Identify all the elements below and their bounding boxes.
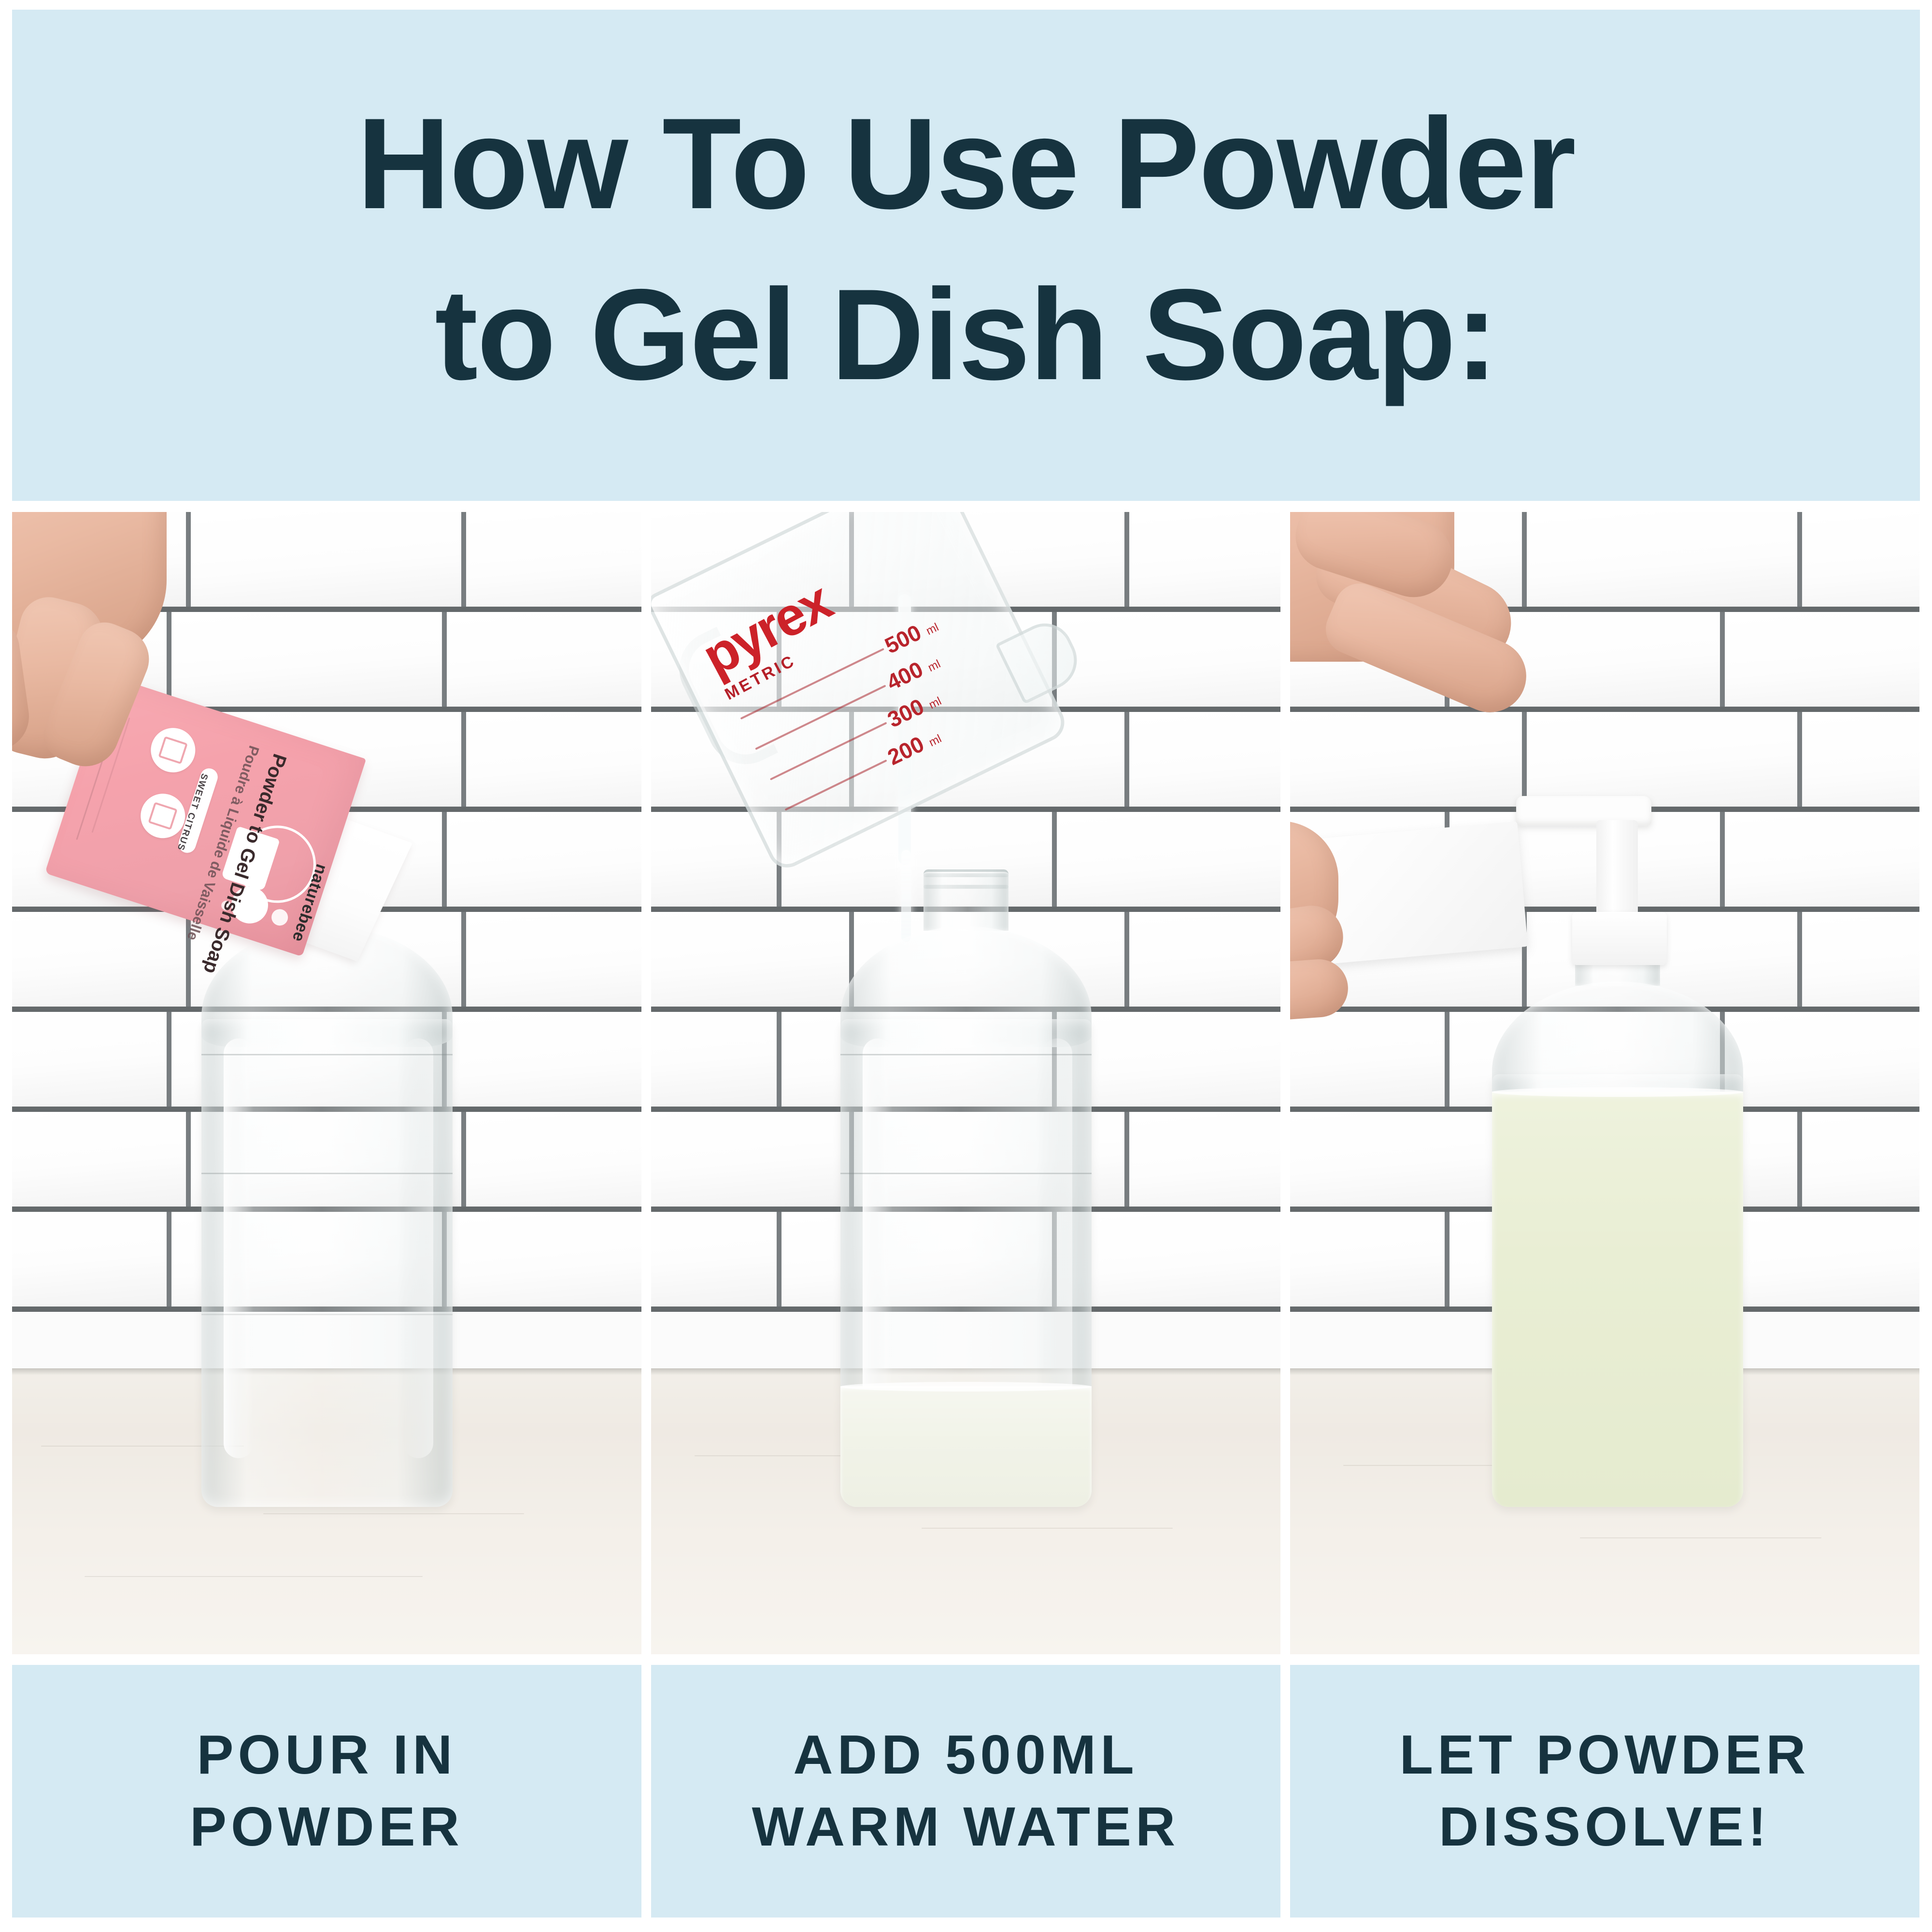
powder-fill (840, 1386, 1092, 1507)
page-title-line-1: How To Use Powder (357, 78, 1575, 249)
gel-fill (1492, 1092, 1743, 1507)
step-caption-3-line-1: LET POWDER (1400, 1719, 1810, 1791)
glass-bottle-with-powder (831, 869, 1101, 1541)
step-caption-2: ADD 500ML WARM WATER (651, 1665, 1280, 1918)
step-photo-1: SWEET CITRUS Poudre à Liquide de Vaissel… (12, 512, 641, 1654)
step-caption-3-line-2: DISSOLVE! (1439, 1791, 1771, 1863)
step-caption-2-line-1: ADD 500ML (793, 1719, 1138, 1791)
page-title-line-2: to Gel Dish Soap: (357, 249, 1575, 420)
step-caption-2-line-2: WARM WATER (752, 1791, 1180, 1863)
step-caption-3: LET POWDER DISSOLVE! (1290, 1665, 1919, 1918)
step-caption-1: POUR IN POWDER (12, 1665, 641, 1918)
step-photo-2: pyrex METRIC 500 ml 400 ml 300 ml 200 ml (651, 512, 1280, 1654)
header-band: How To Use Powder to Gel Dish Soap: (12, 10, 1920, 501)
step-caption-row: POUR IN POWDER ADD 500ML WARM WATER LET … (12, 1665, 1920, 1918)
pump-collar (1572, 912, 1667, 965)
step-caption-1-line-1: POUR IN (197, 1719, 456, 1791)
glass-bottle-with-gel (1482, 937, 1753, 1541)
infographic-poster: How To Use Powder to Gel Dish Soap: (0, 0, 1932, 1932)
pump-stem (1596, 820, 1638, 919)
hand-pressing-pump (1290, 512, 1619, 831)
step-photo-row: SWEET CITRUS Poudre à Liquide de Vaissel… (12, 512, 1920, 1654)
step-photo-3 (1290, 512, 1919, 1654)
step-caption-1-line-2: POWDER (190, 1791, 464, 1863)
hand-holding-sachet (12, 512, 234, 787)
glass-bottle-empty (192, 869, 462, 1541)
page-title: How To Use Powder to Gel Dish Soap: (357, 78, 1575, 433)
hand-holding-wrapper (1290, 821, 1367, 1034)
pyrex-mark-200: 200 ml (883, 723, 945, 770)
